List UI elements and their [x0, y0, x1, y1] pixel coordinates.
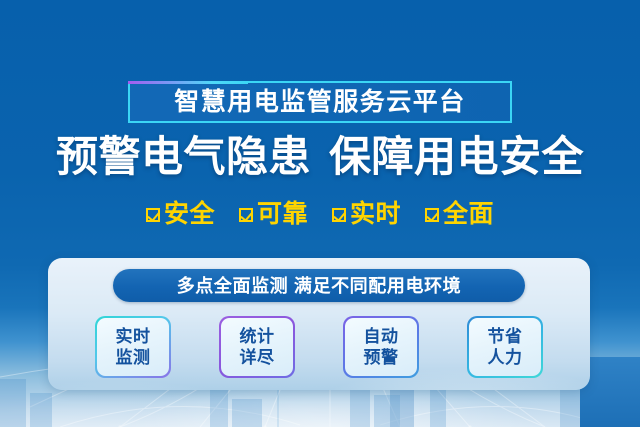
feature-card-line2: 人力 — [488, 348, 523, 367]
feature-check-item: 实时 — [332, 202, 401, 227]
headline-right: 保障用电安全 — [329, 133, 584, 180]
subheadline-text: 多点全面监测 满足不同配用电环境 — [177, 277, 462, 295]
feature-card-line2: 详尽 — [240, 348, 275, 367]
platform-title-text: 智慧用电监管服务云平台 — [174, 90, 466, 115]
feature-card-realtime-monitoring[interactable]: 实时 监测 — [95, 316, 171, 378]
headline-left: 预警电气隐患 — [56, 133, 311, 180]
platform-title-box: 智慧用电监管服务云平台 — [128, 81, 512, 123]
feature-check-item: 全面 — [425, 202, 494, 227]
feature-card-list: 实时 监测 统计 详尽 自动 预警 节省 人力 — [48, 316, 590, 378]
feature-card-inner: 实时 监测 — [97, 318, 170, 377]
feature-check-label: 安全 — [164, 202, 215, 227]
checkbox-checked-icon — [425, 208, 439, 222]
promo-poster: 智慧用电监管服务云平台 预警电气隐患保障用电安全 安全 可靠 实时 全面 多点全… — [0, 0, 640, 427]
checkbox-checked-icon — [146, 208, 160, 222]
feature-card-line2: 预警 — [364, 348, 399, 367]
checkbox-checked-icon — [239, 208, 253, 222]
feature-check-list: 安全 可靠 实时 全面 — [0, 202, 640, 227]
feature-card-line1: 实时 — [116, 327, 151, 346]
subheadline-pill: 多点全面监测 满足不同配用电环境 — [113, 269, 525, 302]
feature-check-label: 可靠 — [257, 202, 308, 227]
main-headline: 预警电气隐患保障用电安全 — [0, 136, 640, 178]
feature-check-label: 实时 — [350, 202, 401, 227]
checkbox-checked-icon — [332, 208, 346, 222]
feature-card-save-manpower[interactable]: 节省 人力 — [467, 316, 543, 378]
feature-card-line1: 节省 — [488, 327, 523, 346]
feature-card-inner: 统计 详尽 — [221, 318, 294, 377]
feature-check-label: 全面 — [443, 202, 494, 227]
feature-card-inner: 自动 预警 — [345, 318, 418, 377]
feature-check-item: 安全 — [146, 202, 215, 227]
feature-card-automatic-alarm[interactable]: 自动 预警 — [343, 316, 419, 378]
feature-card-line1: 自动 — [364, 327, 399, 346]
feature-card-detailed-statistics[interactable]: 统计 详尽 — [219, 316, 295, 378]
feature-card-line2: 监测 — [116, 348, 151, 367]
feature-card-line1: 统计 — [240, 327, 275, 346]
feature-check-item: 可靠 — [239, 202, 308, 227]
feature-card-inner: 节省 人力 — [469, 318, 542, 377]
